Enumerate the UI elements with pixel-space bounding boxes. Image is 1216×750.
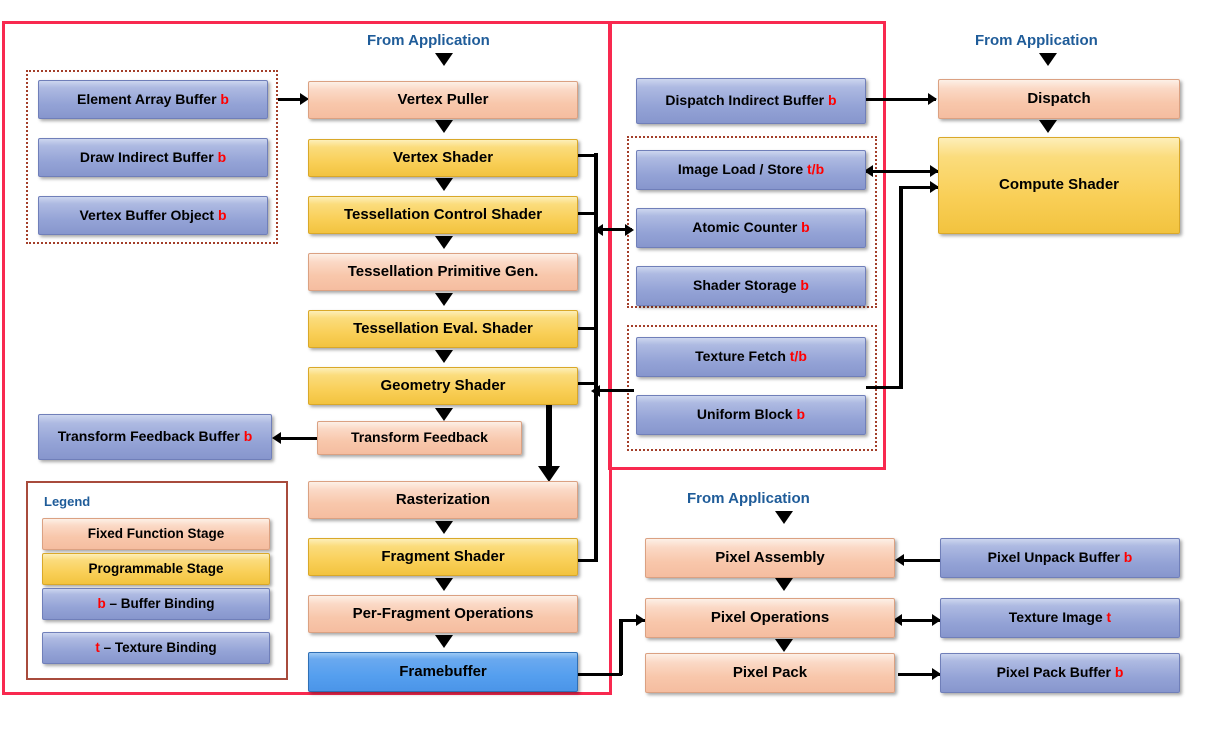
line-bus-to-fragment-shader bbox=[576, 559, 596, 562]
box-label: Element Array Buffer bbox=[77, 91, 217, 107]
legend-title: Legend bbox=[44, 494, 90, 509]
legend-label: – Texture Binding bbox=[104, 640, 217, 655]
box-compute-shader[interactable]: Compute Shader bbox=[938, 137, 1180, 234]
line-texture-fetch-riser bbox=[899, 186, 903, 389]
box-pixel-operations[interactable]: Pixel Operations bbox=[645, 598, 895, 638]
binding-letter: t bbox=[1107, 609, 1112, 625]
box-tessellation-eval-shader[interactable]: Tessellation Eval. Shader bbox=[308, 310, 578, 348]
box-tessellation-primitive-gen[interactable]: Tessellation Primitive Gen. bbox=[308, 253, 578, 291]
box-label: Fragment Shader bbox=[377, 549, 508, 566]
box-transform-feedback-buffer[interactable]: Transform Feedback Buffer b bbox=[38, 414, 272, 460]
binding-letter: b bbox=[220, 91, 229, 107]
box-label: Pixel Unpack Buffer bbox=[988, 549, 1120, 565]
arrow-pixel-operations-to-pixel-pack bbox=[775, 639, 793, 652]
arrow-bus-tie-groupb-left bbox=[591, 385, 600, 397]
line-texture-fetch-stub bbox=[866, 386, 902, 389]
box-label: Dispatch bbox=[1023, 91, 1094, 108]
line-pixel-unpack-to-pixel-assembly bbox=[898, 559, 940, 562]
box-label: Pixel Pack bbox=[729, 665, 811, 682]
line-framebuffer-out bbox=[576, 673, 622, 676]
box-label: Compute Shader bbox=[995, 177, 1123, 194]
arrow-vertex-puller-to-vertex-shader bbox=[435, 120, 453, 133]
box-shader-storage[interactable]: Shader Storage b bbox=[636, 266, 866, 306]
arrow-tpg-to-tes bbox=[435, 293, 453, 306]
line-geometry-shader-bypass bbox=[546, 397, 552, 470]
line-bus-to-tes bbox=[576, 327, 596, 330]
box-geometry-shader[interactable]: Geometry Shader bbox=[308, 367, 578, 405]
line-bus-to-binding-group-b bbox=[598, 389, 634, 392]
line-bus-to-vertex-shader bbox=[576, 154, 596, 157]
binding-letter: b bbox=[218, 149, 227, 165]
box-draw-indirect-buffer[interactable]: Draw Indirect Buffer b bbox=[38, 138, 268, 177]
opengl-pipeline-diagram: From Application From Application From A… bbox=[0, 0, 1216, 750]
box-label: Pixel Assembly bbox=[711, 550, 829, 567]
line-transform-feedback-to-buffer bbox=[275, 437, 317, 440]
box-fragment-shader[interactable]: Fragment Shader bbox=[308, 538, 578, 576]
box-label: Shader Storage bbox=[693, 277, 796, 293]
box-transform-feedback[interactable]: Transform Feedback bbox=[317, 421, 522, 455]
box-uniform-block[interactable]: Uniform Block b bbox=[636, 395, 866, 435]
arrow-fragment-shader-to-per-fragment-ops bbox=[435, 578, 453, 591]
box-label: Transform Feedback Buffer bbox=[58, 428, 240, 444]
arrow-app-to-pixel-assembly bbox=[775, 511, 793, 524]
arrow-tcs-to-tpg bbox=[435, 236, 453, 249]
box-label: Texture Fetch bbox=[695, 348, 786, 364]
box-label: Uniform Block bbox=[697, 406, 793, 422]
legend-item-texture-binding: t – Texture Binding bbox=[42, 632, 270, 664]
box-label: Per-Fragment Operations bbox=[349, 606, 538, 623]
line-bus-to-tcs bbox=[576, 212, 596, 215]
box-tessellation-control-shader[interactable]: Tessellation Control Shader bbox=[308, 196, 578, 234]
box-texture-fetch[interactable]: Texture Fetch t/b bbox=[636, 337, 866, 377]
box-element-array-buffer[interactable]: Element Array Buffer b bbox=[38, 80, 268, 119]
arrow-tes-to-geometry-shader bbox=[435, 350, 453, 363]
binding-letter: t/b bbox=[790, 348, 807, 364]
legend-label: Programmable Stage bbox=[84, 561, 227, 576]
box-dispatch[interactable]: Dispatch bbox=[938, 79, 1180, 119]
binding-letter: b bbox=[97, 596, 105, 611]
box-label: Tessellation Control Shader bbox=[340, 207, 546, 224]
box-atomic-counter[interactable]: Atomic Counter b bbox=[636, 208, 866, 248]
box-label: Atomic Counter bbox=[692, 219, 797, 235]
box-image-load-store[interactable]: Image Load / Store t/b bbox=[636, 150, 866, 190]
box-vertex-puller[interactable]: Vertex Puller bbox=[308, 81, 578, 119]
box-vertex-buffer-object[interactable]: Vertex Buffer Object b bbox=[38, 196, 268, 235]
arrow-pixel-assembly-to-pixel-operations bbox=[775, 578, 793, 591]
line-dispatch-indirect-to-dispatch bbox=[866, 98, 936, 101]
arrow-dispatch-indirect-to-dispatch bbox=[928, 93, 937, 105]
binding-letter: b bbox=[244, 428, 253, 444]
box-framebuffer[interactable]: Framebuffer bbox=[308, 652, 578, 692]
arrow-rasterization-to-fragment-shader bbox=[435, 521, 453, 534]
binding-letter: t bbox=[95, 640, 100, 655]
arrow-vertex-shader-to-tcs bbox=[435, 178, 453, 191]
legend-label: – Buffer Binding bbox=[110, 596, 215, 611]
box-per-fragment-operations[interactable]: Per-Fragment Operations bbox=[308, 595, 578, 633]
binding-letter: b bbox=[1124, 549, 1133, 565]
box-rasterization[interactable]: Rasterization bbox=[308, 481, 578, 519]
box-label: Pixel Pack Buffer bbox=[997, 664, 1111, 680]
binding-letter: b bbox=[828, 92, 837, 108]
legend-item-fixed-function: Fixed Function Stage bbox=[42, 518, 270, 550]
legend-item-buffer-binding: b – Buffer Binding bbox=[42, 588, 270, 620]
arrow-dispatch-to-compute-shader bbox=[1039, 120, 1057, 133]
box-label: Rasterization bbox=[392, 492, 494, 509]
box-label: Tessellation Eval. Shader bbox=[349, 321, 537, 338]
box-label: Transform Feedback bbox=[347, 430, 492, 446]
box-label: Image Load / Store bbox=[678, 161, 803, 177]
binding-letter: b bbox=[218, 207, 227, 223]
box-label: Framebuffer bbox=[395, 664, 491, 681]
legend-item-programmable: Programmable Stage bbox=[42, 553, 270, 585]
arrow-framebuffer-to-pixel-operations bbox=[636, 614, 645, 626]
box-label: Geometry Shader bbox=[376, 378, 509, 395]
box-label: Vertex Shader bbox=[389, 150, 497, 167]
box-pixel-pack[interactable]: Pixel Pack bbox=[645, 653, 895, 693]
binding-letter: b bbox=[800, 277, 809, 293]
line-framebuffer-riser bbox=[619, 619, 623, 675]
binding-letter: b bbox=[1115, 664, 1124, 680]
box-pixel-pack-buffer[interactable]: Pixel Pack Buffer b bbox=[940, 653, 1180, 693]
box-label: Pixel Operations bbox=[707, 610, 833, 627]
box-pixel-assembly[interactable]: Pixel Assembly bbox=[645, 538, 895, 578]
binding-letter: b bbox=[801, 219, 810, 235]
box-texture-image[interactable]: Texture Image t bbox=[940, 598, 1180, 638]
binding-letter: t/b bbox=[807, 161, 824, 177]
arrow-per-fragment-ops-to-framebuffer bbox=[435, 635, 453, 648]
arrow-bus-tie-left bbox=[594, 224, 603, 236]
arrow-app-to-dispatch bbox=[1039, 53, 1057, 66]
box-label: Vertex Buffer Object bbox=[79, 207, 214, 223]
box-label: Texture Image bbox=[1009, 609, 1103, 625]
arrow-app-to-vertex-puller bbox=[435, 53, 453, 66]
binding-letter: b bbox=[797, 406, 806, 422]
header-from-application-pixel: From Application bbox=[687, 490, 810, 507]
box-label: Tessellation Primitive Gen. bbox=[344, 264, 543, 281]
header-from-application-compute: From Application bbox=[975, 32, 1098, 49]
arrow-bus-tie-right bbox=[625, 224, 634, 236]
line-image-load-store-to-compute bbox=[866, 170, 938, 173]
box-label: Vertex Puller bbox=[394, 92, 493, 109]
arrow-geometry-shader-to-transform-feedback bbox=[435, 408, 453, 421]
arrow-transform-feedback-to-buffer bbox=[272, 432, 281, 444]
box-vertex-shader[interactable]: Vertex Shader bbox=[308, 139, 578, 177]
box-label: Draw Indirect Buffer bbox=[80, 149, 214, 165]
arrow-geometry-shader-bypass-to-rasterization bbox=[538, 466, 560, 482]
legend-label: Fixed Function Stage bbox=[84, 526, 229, 541]
box-label: Dispatch Indirect Buffer bbox=[665, 92, 824, 108]
header-from-application-vertex: From Application bbox=[367, 32, 490, 49]
box-pixel-unpack-buffer[interactable]: Pixel Unpack Buffer b bbox=[940, 538, 1180, 578]
box-dispatch-indirect-buffer[interactable]: Dispatch Indirect Buffer b bbox=[636, 78, 866, 124]
arrow-pixel-unpack-to-pixel-assembly bbox=[895, 554, 904, 566]
